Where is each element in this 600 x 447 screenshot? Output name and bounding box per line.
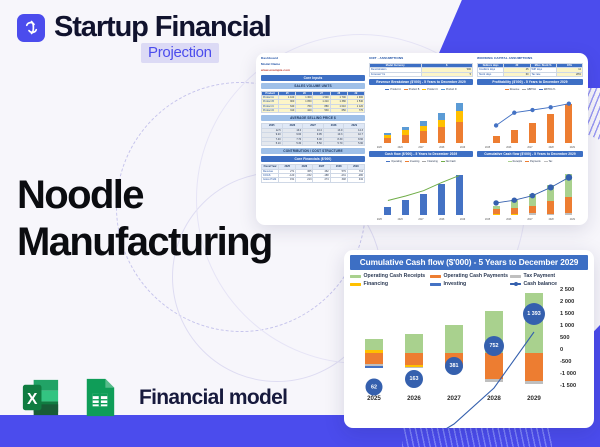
legend-item-financing: Financing bbox=[350, 281, 428, 287]
x-tick-2025: 2025 bbox=[356, 395, 392, 402]
y-tick-3: 1 000 bbox=[560, 324, 574, 330]
y-tick-6: -500 bbox=[560, 360, 571, 366]
legend-swatch-financing bbox=[350, 283, 361, 286]
cumulative-chart-legend: Receipts Payments Tax bbox=[477, 159, 583, 163]
panel-title-revenue-cost: CONTRIBUTION / COST STRUCTURE bbox=[261, 148, 365, 154]
chart-x-axis: 2025 2026 2027 2028 2029 bbox=[354, 392, 554, 404]
swirl-e-logo-icon bbox=[17, 14, 45, 42]
legend-label-operating-cash-receipts: Operating Cash Receipts bbox=[364, 273, 426, 279]
cash-flow-chart-legend: Operating Investing Financing Net Cash bbox=[369, 159, 473, 163]
chart-y-axis: 2 500 2 000 1 500 1 000 500 0 -500 -1 00… bbox=[556, 288, 588, 390]
section-bar-cash-flow: Cash flow ($'000) - 5 Years to December … bbox=[369, 151, 473, 157]
section-bar-revenue-breakdown: Revenue Breakdown ($'000) - 5 Years to D… bbox=[369, 79, 473, 85]
legend-label-investing: Investing bbox=[443, 281, 466, 287]
y-tick-2: 1 500 bbox=[560, 312, 574, 318]
cumulative-chart-xaxis: 20252026202720282029 bbox=[477, 219, 583, 221]
legend-item-cash-balance: Cash balance bbox=[510, 281, 588, 287]
data-label-2027: 381 bbox=[445, 357, 463, 375]
cumulative-cash-flow-chart: 20252026202720282029 bbox=[477, 165, 583, 221]
panel-title-unit-assumptions: UNIT - ASSUMPTIONS bbox=[369, 57, 473, 61]
footer-label: Financial model bbox=[139, 386, 287, 410]
microsoft-excel-icon: X bbox=[17, 374, 64, 421]
profitability-chart-legend: Revenue EBITDA EBITDA % bbox=[477, 87, 583, 91]
legend-swatch-operating-cash-receipts bbox=[350, 275, 361, 278]
section-bar-profitability: Profitability ($'000) - 5 Years to Decem… bbox=[477, 79, 583, 85]
svg-text:X: X bbox=[27, 391, 38, 408]
data-label-2028: 752 bbox=[484, 336, 504, 356]
page-title-line-2: Manufacturing bbox=[17, 219, 272, 266]
legend-item-investing: Investing bbox=[430, 281, 508, 287]
panel-title-average-price: AVERAGE SELLING PRICE $ bbox=[261, 115, 365, 121]
dashboard-column-left: Dashboard Model Name www.example.com Cor… bbox=[261, 57, 365, 221]
panel-title-sales-volume: SALES VOLUME UNITS bbox=[261, 83, 365, 89]
chart-title: Cumulative Cash flow ($'000) - 5 Years t… bbox=[350, 255, 588, 270]
legend-swatch-operating-cash-payments bbox=[430, 275, 441, 278]
legend-swatch-tax-payment bbox=[510, 275, 521, 278]
working-capital-table: Debtors days30Misc. Stock %10% Creditors… bbox=[477, 63, 583, 77]
legend-label-financing: Financing bbox=[364, 281, 389, 287]
profitability-chart-xaxis: 20252026202720282029 bbox=[477, 147, 583, 149]
section-bar-core-inputs: Core Inputs bbox=[261, 75, 365, 81]
data-label-2029: 1 393 bbox=[523, 303, 545, 325]
dashboard-column-middle: UNIT - ASSUMPTIONS Model Currency$ Denom… bbox=[369, 57, 473, 221]
dashboard-column-right: WORKING CAPITAL ASSUMPTIONS Debtors days… bbox=[477, 57, 583, 221]
legend-swatch-cash-balance bbox=[510, 283, 521, 285]
legend-item-operating-cash-payments: Operating Cash Payments bbox=[430, 273, 508, 279]
chart-bar-group-2027 bbox=[436, 292, 472, 390]
y-tick-7: -1 000 bbox=[560, 372, 576, 378]
brand-lockup: Startup Financial bbox=[17, 13, 271, 42]
x-tick-2028: 2028 bbox=[476, 395, 512, 402]
dashboard-link: www.example.com bbox=[261, 69, 365, 73]
legend-item-tax-payment: Tax Payment bbox=[510, 273, 588, 279]
panel-title-working-capital: WORKING CAPITAL ASSUMPTIONS bbox=[477, 57, 583, 61]
legend-label-tax-payment: Tax Payment bbox=[524, 273, 556, 279]
profitability-chart: 20252026202720282029 bbox=[477, 93, 583, 149]
dashboard-subtitle: Model Name bbox=[261, 63, 365, 67]
core-financials-table: Fiscal Year20252026202720282029 Revenue2… bbox=[261, 164, 365, 183]
legend-swatch-investing bbox=[430, 283, 441, 286]
dashboard-title: Dashboard bbox=[261, 57, 365, 61]
cash-flow-chart-xaxis: 20252026202720282029 bbox=[369, 219, 473, 221]
revenue-breakdown-chart: 20252026202720282029 bbox=[369, 93, 473, 149]
section-bar-core-financials: Core Financials ($'000) bbox=[261, 156, 365, 162]
revenue-chart-legend: Product A Product B Product C Product D bbox=[369, 87, 473, 91]
y-tick-5: 0 bbox=[560, 348, 563, 354]
legend-label-operating-cash-payments: Operating Cash Payments bbox=[443, 273, 508, 279]
legend-label-cash-balance: Cash balance bbox=[524, 281, 557, 287]
page-title-line-1: Noodle bbox=[17, 172, 272, 219]
footer-row: X Financial model bbox=[17, 374, 287, 421]
y-tick-4: 500 bbox=[560, 336, 570, 342]
y-tick-1: 2 000 bbox=[560, 300, 574, 306]
data-label-2026: 163 bbox=[405, 370, 423, 388]
revenue-chart-xaxis: 20252026202720282029 bbox=[369, 147, 473, 149]
google-sheets-icon bbox=[76, 374, 123, 421]
sales-volume-table: Product2526272829 Product A1 1001 3001 5… bbox=[261, 91, 365, 114]
legend-item-operating-cash-receipts: Operating Cash Receipts bbox=[350, 273, 428, 279]
chart-bar-group-2025 bbox=[356, 292, 392, 390]
dashboard-preview-card[interactable]: Dashboard Model Name www.example.com Cor… bbox=[256, 53, 588, 225]
cash-flow-chart: 20252026202720282029 bbox=[369, 165, 473, 221]
chart-legend: Operating Cash Receipts Operating Cash P… bbox=[350, 273, 588, 287]
y-tick-8: -1 500 bbox=[560, 384, 576, 390]
section-bar-cumulative-cash-flow: Cumulative Cash flow ($'000) - 5 Years t… bbox=[477, 151, 583, 157]
x-tick-2027: 2027 bbox=[436, 395, 472, 402]
cumulative-cash-flow-card[interactable]: Cumulative Cash flow ($'000) - 5 Years t… bbox=[344, 250, 594, 428]
x-tick-2026: 2026 bbox=[396, 395, 432, 402]
brand-name: Startup Financial bbox=[54, 13, 271, 42]
brand-subtitle: Projection bbox=[141, 43, 219, 63]
average-price-table: 20252026202720282029 12.513.013.413.914.… bbox=[261, 123, 365, 146]
x-tick-2029: 2029 bbox=[516, 395, 552, 402]
chart-plot-area: 62 163 381 752 1 393 2025 2026 2027 2028… bbox=[350, 292, 588, 404]
y-tick-0: 2 500 bbox=[560, 288, 574, 294]
page-title: Noodle Manufacturing bbox=[17, 172, 272, 266]
unit-assumptions-table: Model Currency$ Denomination'000 Forecas… bbox=[369, 63, 473, 77]
